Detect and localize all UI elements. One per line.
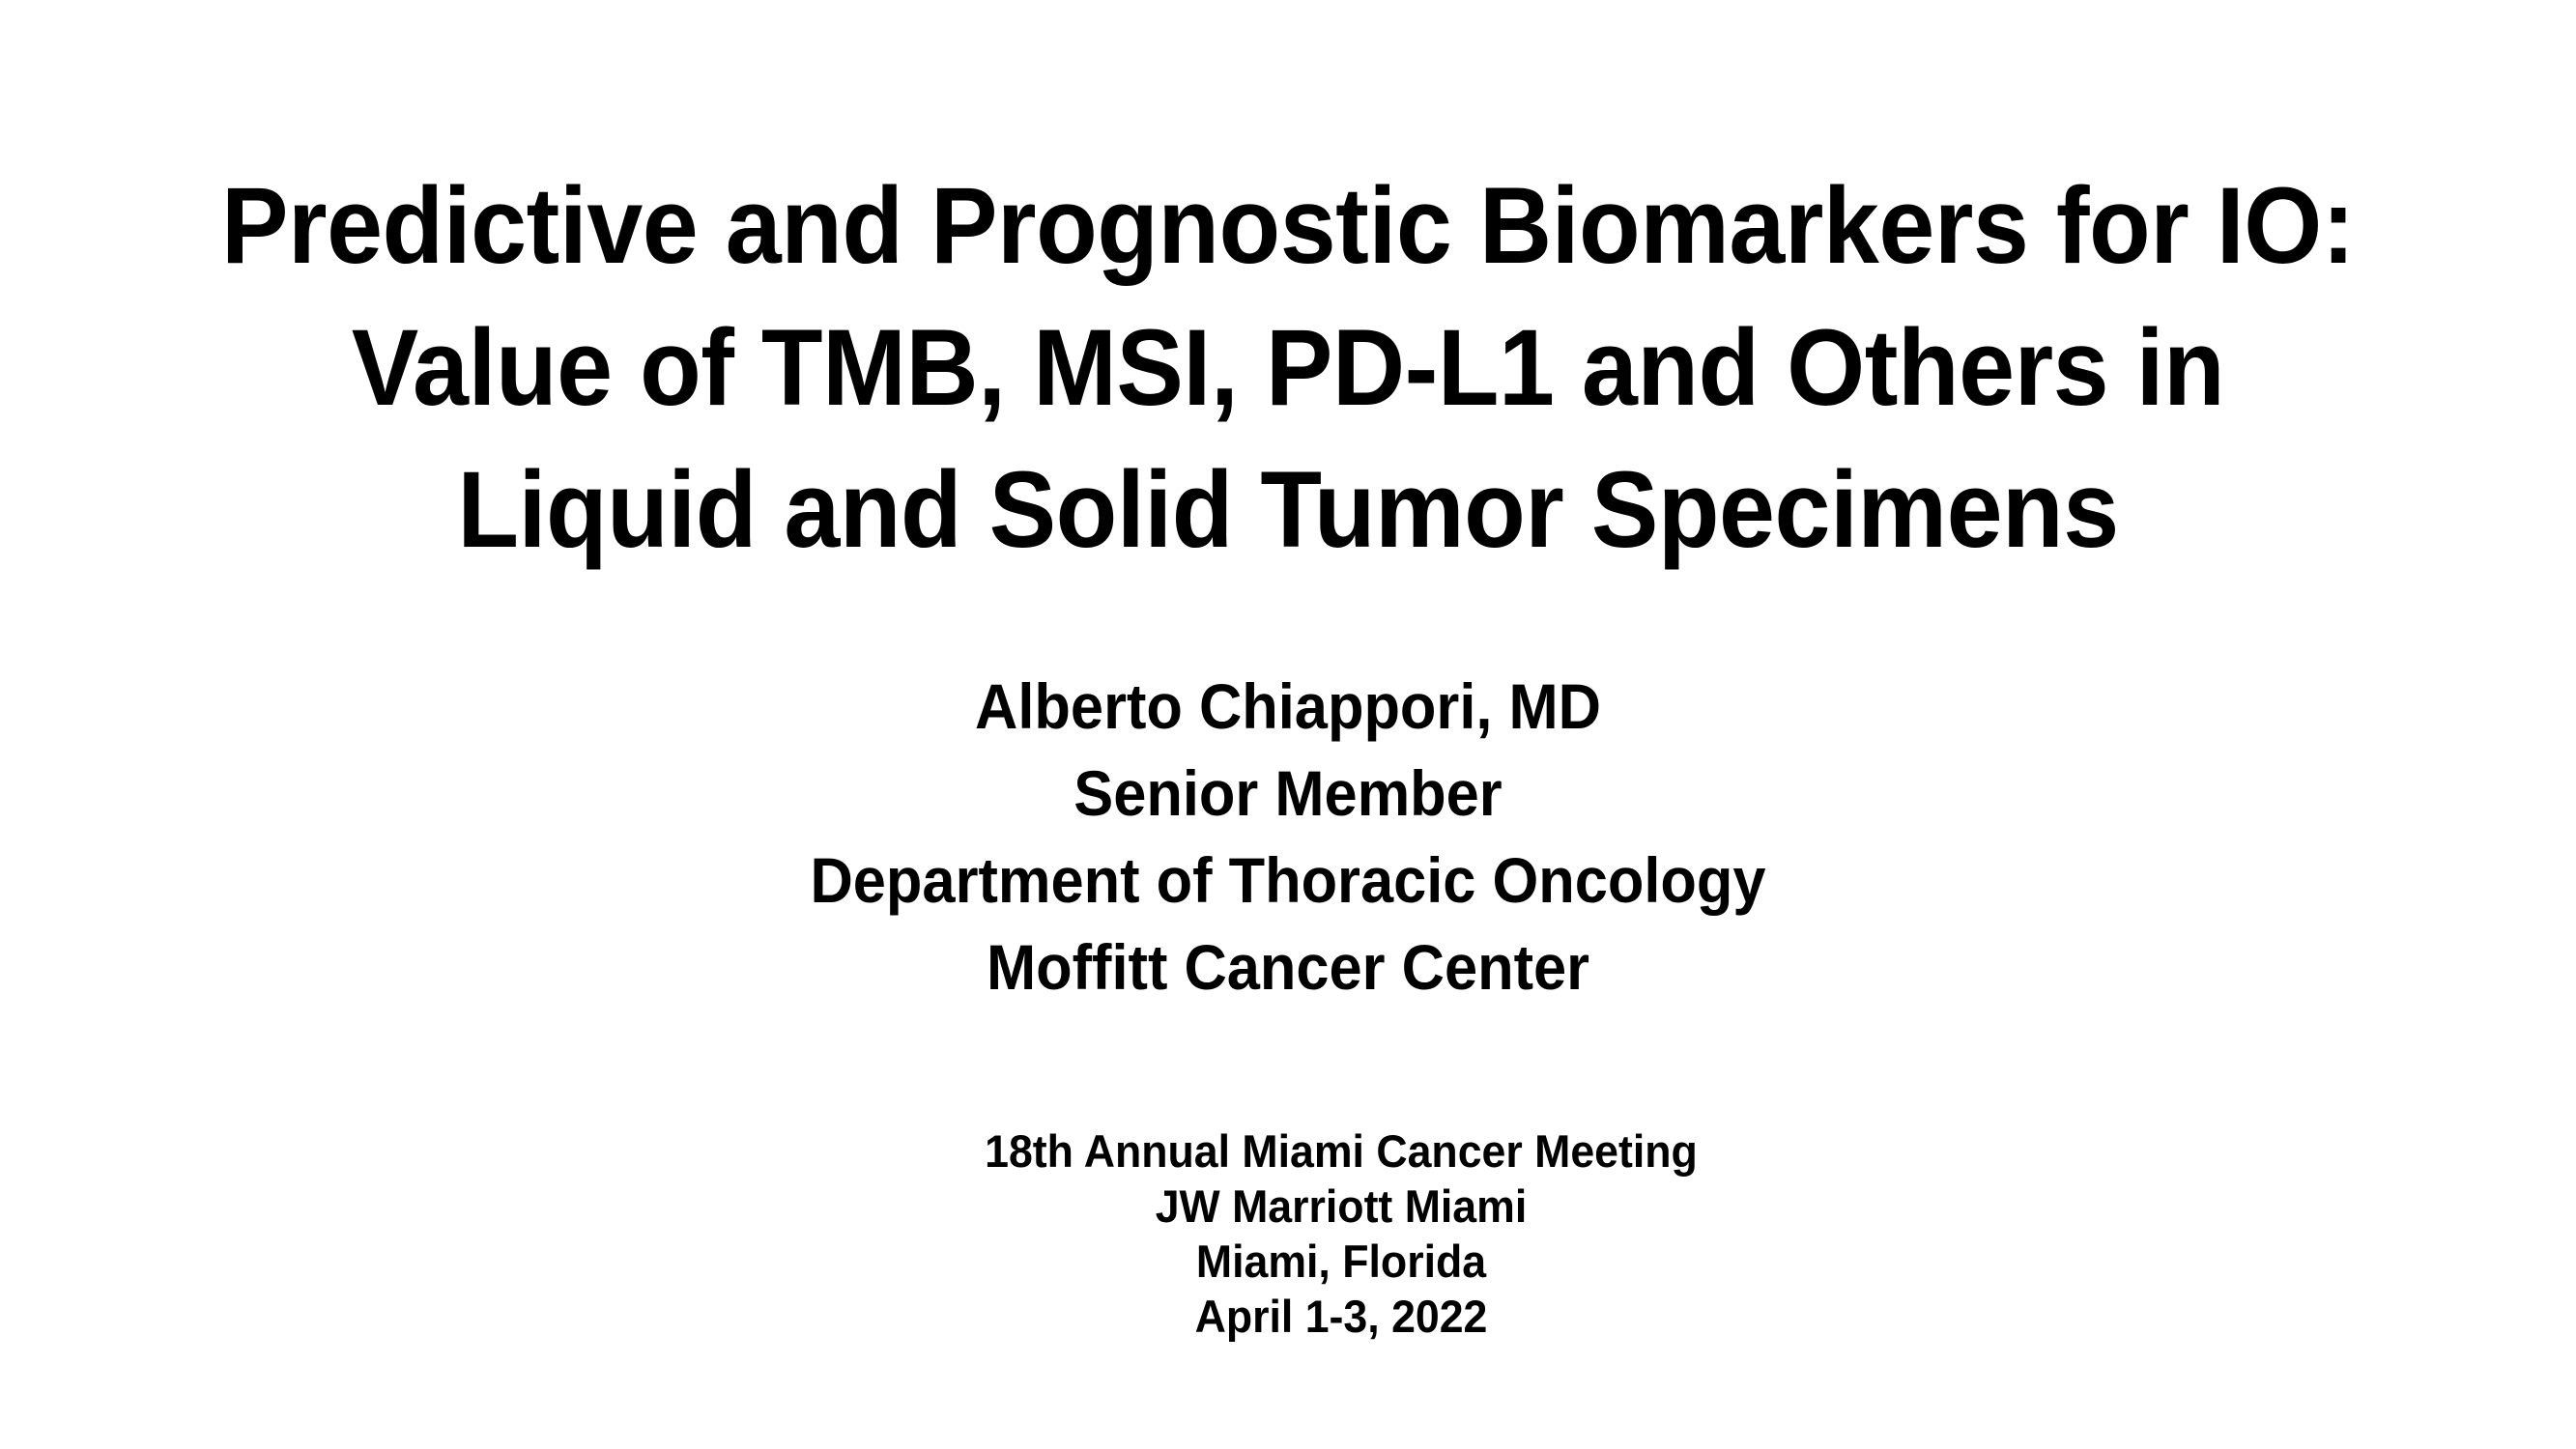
title-line-2: Value of TMB, MSI, PD-L1 and Others in: [90, 297, 2485, 439]
presentation-title: Predictive and Prognostic Biomarkers for…: [0, 155, 2576, 581]
meeting-details-block: 18th Annual Miami Cancer Meeting JW Marr…: [0, 1123, 2576, 1344]
title-slide: Predictive and Prognostic Biomarkers for…: [0, 0, 2576, 1449]
author-department: Department of Thoracic Oncology: [90, 837, 2485, 923]
meeting-dates: April 1-3, 2022: [168, 1289, 2514, 1344]
title-line-1: Predictive and Prognostic Biomarkers for…: [90, 155, 2485, 297]
author-affiliation-block: Alberto Chiappori, MD Senior Member Depa…: [0, 663, 2576, 1010]
meeting-venue: JW Marriott Miami: [168, 1179, 2514, 1234]
author-name: Alberto Chiappori, MD: [90, 663, 2485, 750]
author-rank: Senior Member: [90, 750, 2485, 837]
meeting-location: Miami, Florida: [168, 1234, 2514, 1289]
title-line-3: Liquid and Solid Tumor Specimens: [90, 439, 2485, 581]
author-institution: Moffitt Cancer Center: [90, 923, 2485, 1010]
meeting-event-name: 18th Annual Miami Cancer Meeting: [168, 1123, 2514, 1179]
